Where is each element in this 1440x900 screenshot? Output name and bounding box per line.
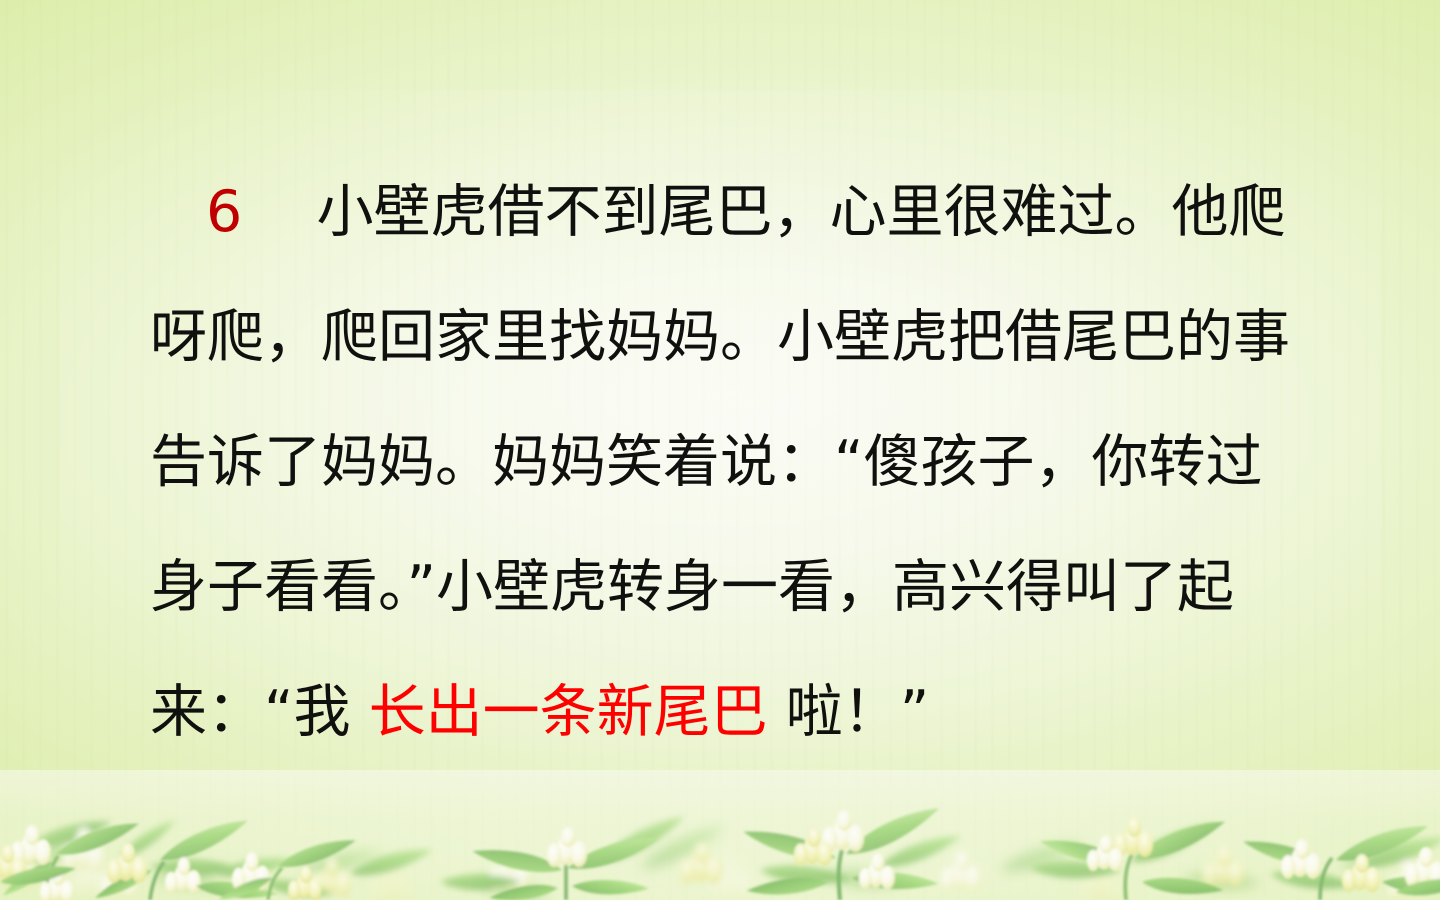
slide-canvas: 6 小壁虎借不到尾巴，心里很难过。他爬 呀爬，爬回家里找妈妈。小壁虎把借尾巴的事… xyxy=(0,0,1440,900)
passage-line-2-text: 呀爬，爬回家里找妈妈。小壁虎把借尾巴的事 xyxy=(150,304,1290,370)
passage-line-4: 身子看看。”小壁虎转身一看，高兴得叫了起 xyxy=(150,525,1310,650)
passage-line-2: 呀爬，爬回家里找妈妈。小壁虎把借尾巴的事 xyxy=(150,275,1310,400)
paragraph-number-marker: 6 xyxy=(206,179,242,245)
passage-line-5-text-before: 来：“我 xyxy=(150,679,351,745)
passage-line-1-text: 小壁虎借不到尾巴，心里很难过。他爬 xyxy=(317,179,1286,245)
passage-line-1: 6 小壁虎借不到尾巴，心里很难过。他爬 xyxy=(150,150,1310,275)
floral-border-haze xyxy=(0,770,1440,900)
jasmine-leaf-border xyxy=(0,770,1440,900)
passage-line-5: 来：“我 长出一条新尾巴 啦！” xyxy=(150,650,1310,775)
passage-line-5-text-after: 啦！” xyxy=(786,679,930,745)
passage-line-4-text: 身子看看。”小壁虎转身一看，高兴得叫了起 xyxy=(150,554,1234,620)
passage-text-block: 6 小壁虎借不到尾巴，心里很难过。他爬 呀爬，爬回家里找妈妈。小壁虎把借尾巴的事… xyxy=(150,150,1310,775)
passage-line-3-text: 告诉了妈妈。妈妈笑着说：“傻孩子，你转过 xyxy=(150,429,1263,495)
passage-line-3: 告诉了妈妈。妈妈笑着说：“傻孩子，你转过 xyxy=(150,400,1310,525)
highlighted-phrase: 长出一条新尾巴 xyxy=(369,679,768,745)
